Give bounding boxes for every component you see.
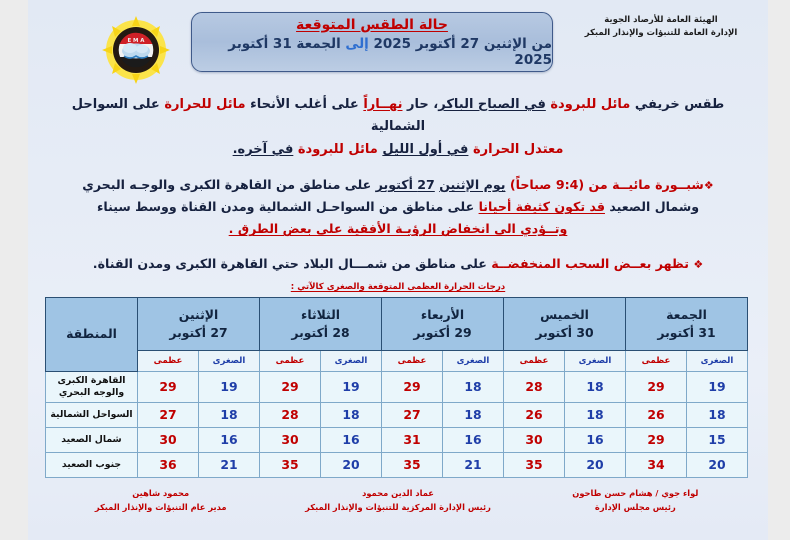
cell-max-r0-c3: 28 [504,371,565,402]
summary-1d: ، حار [407,97,438,112]
region-label-0: القاهرة الكبرى والوجه البحري [46,371,138,402]
day-name-4: الخميس [504,306,625,324]
fog-seg-2: يوم الإثنين [439,177,505,192]
cell-min-r2-c3: 16 [565,427,626,452]
summary-1g: مائل للحرارة [164,97,245,112]
cell-max-r0-c4: 29 [626,371,687,402]
cell-min-r2-c1: 16 [321,427,382,452]
cell-min-r0-c3: 18 [565,371,626,402]
cell-min-r1-c0: 18 [199,402,260,427]
cell-max-r3-c1: 35 [260,452,321,477]
table-row: 20 34 20 35 21 35 20 35 21 36 جنوب الصعي… [46,452,748,477]
clouds-seg-1: تظهر بعــض السحب المنخفضــة [491,256,689,271]
signature-right-role: مدير عام التنبؤات والإنذار المبكر [42,501,279,514]
day-name-5: الجمعة [626,306,747,324]
day-date-2: 28 أكتوبر [260,324,381,342]
cell-max-r1-c4: 26 [626,402,687,427]
summary-1b: مائل للبرودة [550,97,630,112]
cell-min-r2-c0: 16 [199,427,260,452]
summary-2d: في آخره. [233,142,294,157]
temperature-table: الجمعة 31 أكتوبر الخميس 30 أكتوبر الأربع… [45,297,748,478]
cell-max-r2-c3: 30 [504,427,565,452]
day-name-1: الإثنين [138,306,259,324]
document-page: الهيئة العامة للأرصاد الجوية الإدارة الع… [28,0,768,540]
cell-max-r2-c4: 29 [626,427,687,452]
day-date-5: 31 أكتوبر [626,324,747,342]
cell-min-r1-c3: 18 [565,402,626,427]
diamond-bullet-icon-2: ❖ [693,258,703,271]
cell-min-r0-c0: 19 [199,371,260,402]
cell-max-r3-c3: 35 [504,452,565,477]
cell-max-r2-c0: 30 [138,427,199,452]
cell-max-r3-c0: 36 [138,452,199,477]
region-label-0-line1: القاهرة الكبرى [46,375,137,387]
fog-seg-8: وتــؤدي الى انخفاض الرؤيـة الأفقية على ب… [229,221,568,236]
title-box: حالة الطقس المتوقعة من الإثنين 27 أكتوبر… [191,12,553,72]
bullet-item-fog: ❖شبــورة مائيــة من (9:4 صباحاً) يوم الإ… [28,174,768,240]
cell-max-r2-c2: 31 [382,427,443,452]
region-label-0-line2: والوجه البحري [46,387,137,399]
authority-line-1: الهيئة العامة للأرصاد الجوية [566,14,756,27]
signature-right-name: محمود شاهين [42,487,279,500]
diamond-bullet-icon: ❖ [704,179,714,192]
cell-min-r1-c2: 18 [443,402,504,427]
cell-min-r3-c4: 20 [687,452,748,477]
fog-seg-7: على مناطق من السواحـل الشمالية ومدن القن… [97,199,474,214]
signature-left: لواء جوي / هشام حسن طاحون رئيس مجلس الإد… [517,487,754,514]
table-header-minmax: الصغرى عظمى الصغرى عظمى الصغرى عظمى الصغ… [46,350,748,371]
cell-min-r3-c1: 20 [321,452,382,477]
day-name-2: الثلاثاء [260,306,381,324]
table-caption: درجات الحرارة العظمى المتوقعة والصغرى كا… [28,282,768,292]
max-header-2: عظمى [260,350,321,371]
date-range-prefix: من الإثنين 27 أكتوبر 2025 [373,36,552,52]
day-header-3: الأربعاء 29 أكتوبر [382,297,504,350]
region-label-3: جنوب الصعيد [46,452,138,477]
table-header-days: الجمعة 31 أكتوبر الخميس 30 أكتوبر الأربع… [46,297,748,350]
summary-2a: معتدل الحرارة [473,142,563,157]
summary-1e: نهــاراً [363,97,402,112]
cell-min-r0-c1: 19 [321,371,382,402]
min-header-5: الصغرى [687,350,748,371]
fog-seg-3: 27 أكتوبر [376,177,435,192]
cell-min-r2-c4: 15 [687,427,748,452]
cell-max-r2-c1: 30 [260,427,321,452]
max-header-4: عظمى [504,350,565,371]
day-date-3: 29 أكتوبر [382,324,503,342]
page-title: حالة الطقس المتوقعة [296,17,448,33]
max-header-3: عظمى [382,350,443,371]
cell-max-r0-c2: 29 [382,371,443,402]
max-header-5: عظمى [626,350,687,371]
svg-text:E M A: E M A [128,38,146,44]
min-header-2: الصغرى [321,350,382,371]
date-range: من الإثنين 27 أكتوبر 2025 إلى الجمعة 31 … [192,36,552,68]
cell-min-r1-c1: 18 [321,402,382,427]
cell-min-r0-c4: 19 [687,371,748,402]
right-margin [768,0,790,540]
cell-min-r3-c3: 20 [565,452,626,477]
fog-seg-6: قد تكون كثيفة أحيانا [479,199,605,214]
egyptian-meteorological-authority-logo-icon: E M A [99,16,173,84]
region-label-2: شمال الصعيد [46,427,138,452]
cell-max-r1-c1: 28 [260,402,321,427]
summary-1f: على أغلب الأنحاء [250,97,359,112]
clouds-seg-2: على مناطق من شمـــال البلاد حتي القاهرة … [93,256,487,271]
date-range-join: إلى [345,36,368,52]
cell-min-r1-c4: 18 [687,402,748,427]
signature-center-role: رئيس الإدارة المركزية للتنبؤات والإنذار … [279,501,516,514]
cell-max-r3-c4: 34 [626,452,687,477]
cell-max-r1-c0: 27 [138,402,199,427]
cell-max-r3-c2: 35 [382,452,443,477]
cell-max-r0-c0: 29 [138,371,199,402]
region-label-1: السواحل الشمالية [46,402,138,427]
day-date-4: 30 أكتوبر [504,324,625,342]
cell-max-r0-c1: 29 [260,371,321,402]
summary-1a: طقس خريفي [635,97,724,112]
temperature-table-wrapper: الجمعة 31 أكتوبر الخميس 30 أكتوبر الأربع… [48,297,748,478]
cell-max-r1-c2: 27 [382,402,443,427]
forecast-bullets: ❖شبــورة مائيــة من (9:4 صباحاً) يوم الإ… [28,174,768,275]
fog-seg-1: شبــورة مائيــة من (9:4 صباحاً) [510,177,704,192]
fog-seg-4: على مناطق من القاهرة الكبرى والوجـه البح… [82,177,371,192]
day-header-4: الخميس 30 أكتوبر [504,297,626,350]
footer-signatures: لواء جوي / هشام حسن طاحون رئيس مجلس الإد… [28,487,768,514]
min-header-4: الصغرى [565,350,626,371]
table-row: 18 26 18 26 18 27 18 28 18 27 السواحل ال… [46,402,748,427]
bullet-item-low-clouds: ❖ تظهر بعــض السحب المنخفضــة على مناطق … [28,253,768,275]
cell-min-r3-c0: 21 [199,452,260,477]
summary-1c: في الصباح الباكر [438,97,546,112]
cell-min-r2-c2: 16 [443,427,504,452]
region-column-header: المنطقة [46,297,138,371]
day-header-2: الثلاثاء 28 أكتوبر [260,297,382,350]
fog-seg-5: وشمال الصعيد [609,199,699,214]
table-row: 19 29 18 28 18 29 19 29 19 29 القاهرة ال… [46,371,748,402]
signature-center-name: عماد الدين محمود [279,487,516,500]
day-name-3: الأربعاء [382,306,503,324]
document-header: الهيئة العامة للأرصاد الجوية الإدارة الع… [28,0,768,92]
day-header-1: الإثنين 27 أكتوبر [138,297,260,350]
forecast-summary: طقس خريفي مائل للبرودة في الصباح الباكر،… [28,94,768,161]
authority-line-2: الإدارة العامة للتنبؤات والإنذار المبكر [566,27,756,40]
signature-right: محمود شاهين مدير عام التنبؤات والإنذار ا… [42,487,279,514]
min-header-3: الصغرى [443,350,504,371]
max-header-1: عظمى [138,350,199,371]
signature-left-name: لواء جوي / هشام حسن طاحون [517,487,754,500]
day-date-1: 27 أكتوبر [138,324,259,342]
signature-center: عماد الدين محمود رئيس الإدارة المركزية ل… [279,487,516,514]
summary-2b: في أول الليل [382,142,468,157]
signature-left-role: رئيس مجلس الإدارة [517,501,754,514]
day-header-5: الجمعة 31 أكتوبر [626,297,748,350]
min-header-1: الصغرى [199,350,260,371]
cell-min-r3-c2: 21 [443,452,504,477]
cell-min-r0-c2: 18 [443,371,504,402]
summary-2c: مائل للبرودة [298,142,378,157]
cell-max-r1-c3: 26 [504,402,565,427]
authority-block: الهيئة العامة للأرصاد الجوية الإدارة الع… [566,14,756,40]
table-row: 15 29 16 30 16 31 16 30 16 30 شمال الصعي… [46,427,748,452]
